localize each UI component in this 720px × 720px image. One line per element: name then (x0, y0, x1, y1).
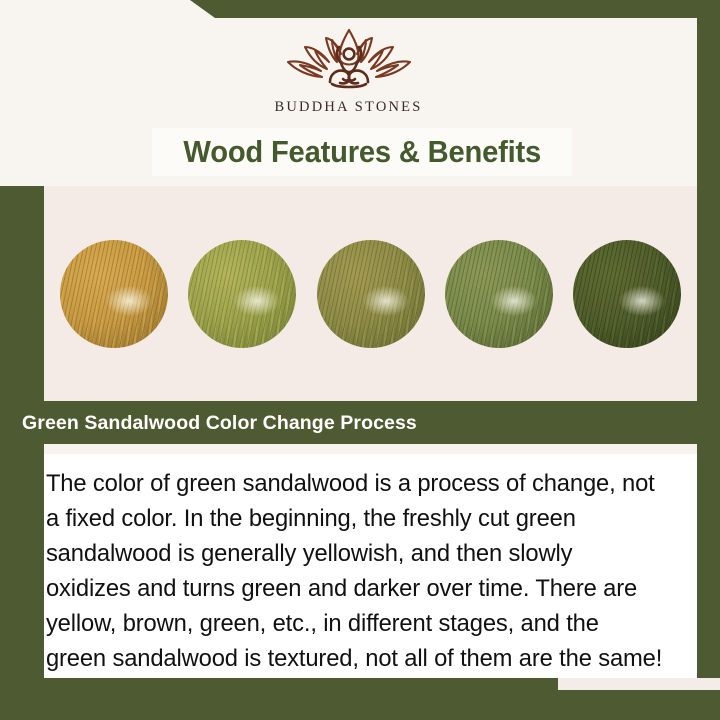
bead-highlight-2 (234, 286, 280, 316)
wood-bead-5 (573, 240, 681, 348)
wood-bead-1 (60, 240, 168, 348)
panel-top-strip (44, 444, 697, 454)
wood-bead-4 (445, 240, 553, 348)
brand-logo: BUDDHA STONES (254, 24, 444, 116)
wood-bead-2 (188, 240, 296, 348)
brand-name: BUDDHA STONES (254, 99, 444, 116)
body-panel: The color of green sandalwood is a proce… (44, 444, 697, 678)
bottom-right-notch (558, 678, 720, 690)
section-heading: Green Sandalwood Color Change Process (22, 412, 417, 435)
poster-canvas: BUDDHA STONES Wood Features & Benefits (0, 0, 720, 720)
bead-highlight-1 (106, 286, 152, 316)
bead-gallery-panel (44, 186, 697, 401)
wood-bead-3 (317, 240, 425, 348)
page-title: Wood Features & Benefits (183, 134, 541, 170)
right-frame-edge (697, 0, 720, 690)
header-inner: BUDDHA STONES Wood Features & Benefits (0, 0, 697, 186)
bead-highlight-3 (363, 286, 409, 316)
page-title-band: Wood Features & Benefits (152, 128, 572, 176)
section-heading-ribbon: Green Sandalwood Color Change Process (0, 404, 520, 442)
bead-highlight-4 (491, 286, 537, 316)
bead-row (44, 186, 697, 401)
body-paragraph: The color of green sandalwood is a proce… (44, 466, 665, 676)
lotus-meditation-icon (274, 24, 424, 96)
header-block: BUDDHA STONES Wood Features & Benefits (0, 0, 720, 186)
bead-highlight-5 (619, 286, 665, 316)
